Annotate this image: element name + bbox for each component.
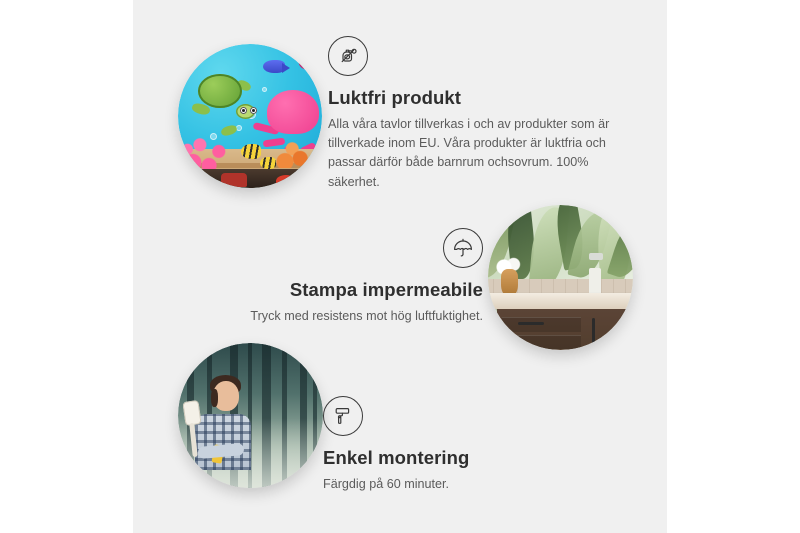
paint-roller-icon — [323, 396, 363, 436]
feature-waterproof-print: Stampa impermeabile Tryck med resistens … — [153, 228, 483, 326]
umbrella-icon — [443, 228, 483, 268]
no-perfume-icon — [328, 36, 368, 76]
feature-description: Alla våra tavlor tillverkas i och av pro… — [328, 115, 623, 192]
product-photo-bathroom-tropical-wallpaper — [488, 205, 633, 350]
feature-title: Enkel montering — [323, 446, 623, 469]
feature-odour-free: Luktfri produkt Alla våra tavlor tillver… — [328, 36, 623, 192]
feature-title: Stampa impermeabile — [153, 278, 483, 301]
feature-easy-mounting: Enkel montering Färgdig på 60 minuter. — [323, 396, 623, 494]
product-photo-woman-roller-forest-mural — [178, 343, 323, 488]
product-feature-canvas: Luktfri produkt Alla våra tavlor tillver… — [133, 0, 667, 533]
feature-title: Luktfri produkt — [328, 86, 623, 109]
feature-description: Tryck med resistens mot hög luftfuktighe… — [153, 307, 483, 326]
feature-description: Färgdig på 60 minuter. — [323, 475, 623, 494]
screenshot-stage: Luktfri produkt Alla våra tavlor tillver… — [0, 0, 800, 533]
product-photo-underwater-kids-mural — [178, 44, 322, 188]
